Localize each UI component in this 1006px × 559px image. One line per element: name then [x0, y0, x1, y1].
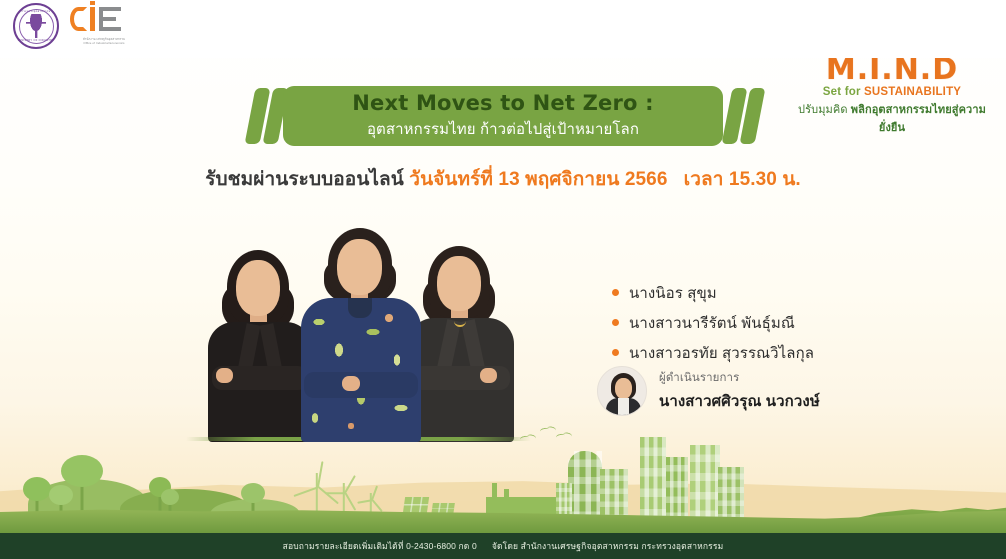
- oie-logo-subtitle: สำนักงาน เศรษฐกิจอุตสาหกรรม Office of In…: [70, 37, 138, 45]
- seal-bottom-text: MINISTRY OF INDUSTRY: [15, 39, 57, 42]
- banner-title-en: Next Moves to Net Zero :: [352, 91, 654, 115]
- dateline-prefix: รับชมผ่านระบบออนไลน์: [205, 169, 404, 190]
- bullet-icon: [612, 289, 619, 296]
- face: [236, 260, 280, 316]
- oie-logomark-icon: [70, 6, 128, 34]
- speakers-list: นางนิอร สุขุม นางสาวนารีรัตน์ พันธุ์มณี …: [612, 281, 912, 371]
- bird-icon: [540, 427, 550, 434]
- footer-bar: สอบถามรายละเอียดเพิ่มเติมได้ที่ 0-2430-6…: [0, 533, 1006, 559]
- footer-text: สอบถามรายละเอียดเพิ่มเติมได้ที่ 0-2430-6…: [283, 539, 724, 553]
- footer-organizer: จัดโดย สำนักงานเศรษฐกิจอุตสาหกรรม กระทรว…: [492, 541, 724, 551]
- bullet-icon: [612, 349, 619, 356]
- speaker-name: นางสาวนารีรัตน์ พันธุ์มณี: [629, 311, 795, 335]
- event-poster: กระทรวงอุตสาหกรรม MINISTRY OF INDUSTRY ส…: [0, 0, 1006, 559]
- ministry-seal-icon: กระทรวงอุตสาหกรรม MINISTRY OF INDUSTRY: [13, 3, 59, 49]
- seal-emblem-icon: [26, 14, 46, 38]
- bird-icon: [556, 433, 566, 440]
- dateline-date: วันจันทร์ที่ 13 พฤศจิกายน 2566: [409, 169, 667, 190]
- moderator-role-label: ผู้ดำเนินรายการ: [659, 369, 820, 387]
- header-bar: กระทรวงอุตสาหกรรม MINISTRY OF INDUSTRY ส…: [0, 0, 1006, 58]
- hand: [342, 376, 360, 391]
- face: [437, 256, 481, 311]
- eco-city-illustration: [0, 393, 1006, 533]
- speaker-name: นางสาวอรทัย สุวรรณวิไลกุล: [629, 341, 814, 365]
- floral-pattern: [301, 298, 421, 442]
- hand: [480, 368, 497, 383]
- oie-letter-i-icon: [90, 7, 95, 31]
- list-item: นางนิอร สุขุม: [612, 281, 912, 305]
- title-banner-group: Next Moves to Net Zero : อุตสาหกรรมไทย ก…: [0, 86, 1006, 148]
- broadcast-dateline: รับชมผ่านระบบออนไลน์ วันจันทร์ที่ 13 พฤศ…: [0, 164, 1006, 194]
- oie-logo: สำนักงาน เศรษฐกิจอุตสาหกรรม Office of In…: [70, 6, 138, 50]
- oie-letter-c-icon: [70, 7, 87, 31]
- list-item: นางสาวอรทัย สุวรรณวิไลกุล: [612, 341, 912, 365]
- building-icon: [640, 437, 666, 523]
- footer-contact: สอบถามรายละเอียดเพิ่มเติมได้ที่ 0-2430-6…: [283, 541, 477, 551]
- dateline-time: เวลา 15.30 น.: [684, 169, 801, 190]
- collar: [348, 298, 372, 318]
- speaker-name: นางนิอร สุขุม: [629, 281, 717, 305]
- building-icon: [690, 445, 720, 523]
- ministry-seal-logo: กระทรวงอุตสาหกรรม MINISTRY OF INDUSTRY: [13, 3, 59, 49]
- banner-title-th: อุตสาหกรรมไทย ก้าวต่อไปสู่เป้าหมายโลก: [367, 117, 639, 141]
- speaker-photo-center: [296, 226, 426, 442]
- crossed-arms: [304, 372, 418, 398]
- building-icon: [568, 451, 602, 523]
- list-item: นางสาวนารีรัตน์ พันธุ์มณี: [612, 311, 912, 335]
- building-icon: [718, 467, 744, 523]
- face: [337, 239, 382, 295]
- bird-icon: [520, 435, 530, 442]
- bullet-icon: [612, 319, 619, 326]
- building-icon: [666, 457, 688, 523]
- oie-subtitle-en: Office of Industrial Economics: [70, 41, 138, 45]
- oie-letter-e-icon: [99, 7, 121, 31]
- hand: [216, 368, 233, 383]
- title-banner: Next Moves to Net Zero : อุตสาหกรรมไทย ก…: [283, 86, 723, 146]
